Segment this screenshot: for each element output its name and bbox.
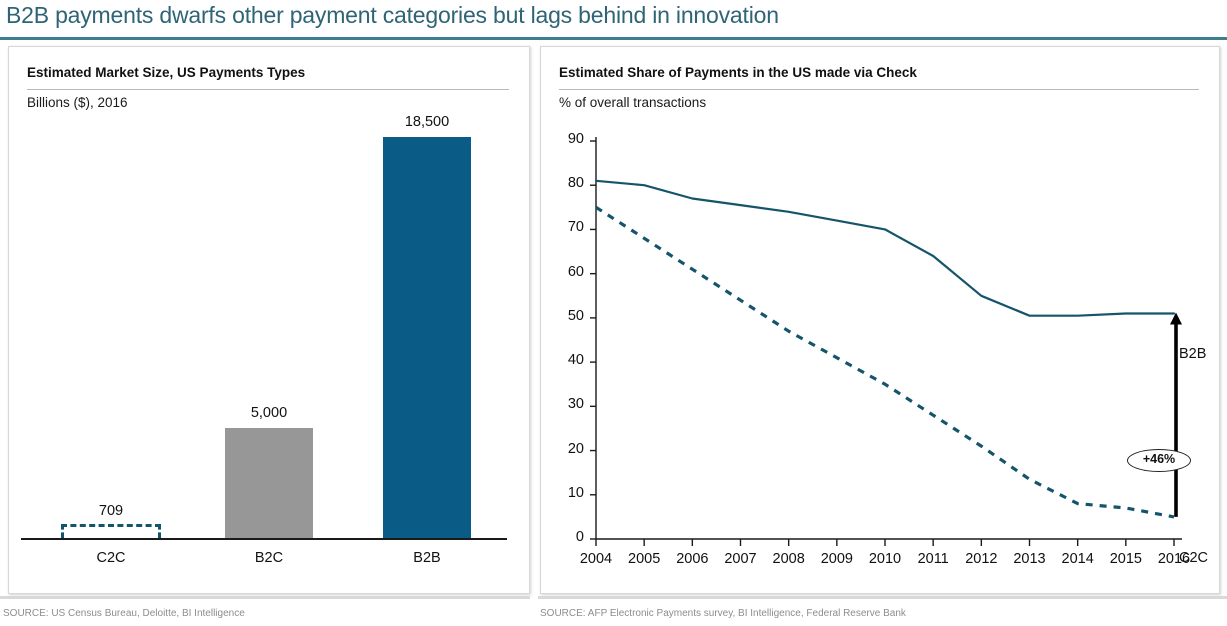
y-axis-tick-label: 60	[558, 264, 584, 280]
y-axis-tick-label: 90	[558, 131, 584, 147]
series-label-b2b: B2B	[1179, 346, 1206, 362]
y-axis-tick-label: 0	[558, 529, 584, 545]
x-axis-tick-label: 2008	[765, 551, 813, 567]
y-axis-tick-label: 20	[558, 441, 584, 457]
x-axis-tick-label: 2007	[717, 551, 765, 567]
page-title: B2B payments dwarfs other payment catego…	[6, 2, 1221, 34]
x-axis-tick-label: 2010	[861, 551, 909, 567]
line-chart: B2B C2C +46% 010203040506070809020042005…	[541, 47, 1221, 595]
bar-value-b2c: 5,000	[219, 405, 319, 421]
x-axis-tick-label: 2014	[1054, 551, 1102, 567]
bar-category-c2c: C2C	[61, 550, 161, 566]
bar-value-c2c: 709	[61, 503, 161, 519]
right-source-note: SOURCE: AFP Electronic Payments survey, …	[540, 608, 906, 619]
bar-value-b2b: 18,500	[377, 114, 477, 130]
right-chart-panel: Estimated Share of Payments in the US ma…	[540, 46, 1220, 594]
bar-chart-axis	[21, 538, 507, 540]
bar-category-b2c: B2C	[219, 550, 319, 566]
x-axis-tick-label: 2004	[572, 551, 620, 567]
y-axis-tick-label: 80	[558, 175, 584, 191]
x-axis-tick-label: 2012	[957, 551, 1005, 567]
left-chart-panel: Estimated Market Size, US Payments Types…	[8, 46, 530, 594]
bar-b2c	[225, 428, 313, 538]
right-source-bar	[538, 596, 1227, 599]
delta-arrow	[1170, 312, 1182, 516]
x-axis-tick-label: 2013	[1006, 551, 1054, 567]
y-axis-tick-label: 40	[558, 352, 584, 368]
bar-chart: 709 C2C 5,000 B2C 18,500 B2B	[9, 47, 531, 595]
x-axis-tick-label: 2011	[909, 551, 957, 567]
left-source-bar	[0, 596, 530, 599]
title-divider	[0, 37, 1227, 40]
x-axis-tick-label: 2016	[1150, 551, 1198, 567]
bar-b2b	[383, 137, 471, 538]
line-chart-svg	[541, 47, 1221, 595]
y-axis-tick-label: 10	[558, 485, 584, 501]
line-series-c2c	[596, 207, 1174, 517]
bar-category-b2b: B2B	[377, 550, 477, 566]
delta-annotation-badge: +46%	[1127, 449, 1191, 472]
bar-c2c	[61, 524, 161, 538]
x-axis-tick-label: 2009	[813, 551, 861, 567]
x-axis-tick-label: 2015	[1102, 551, 1150, 567]
y-axis-tick-label: 50	[558, 308, 584, 324]
x-axis-tick-label: 2006	[668, 551, 716, 567]
y-axis-tick-label: 70	[558, 219, 584, 235]
line-series-b2b	[596, 181, 1174, 316]
y-axis-tick-label: 30	[558, 396, 584, 412]
x-axis-tick-label: 2005	[620, 551, 668, 567]
left-source-note: SOURCE: US Census Bureau, Deloitte, BI I…	[3, 608, 245, 619]
